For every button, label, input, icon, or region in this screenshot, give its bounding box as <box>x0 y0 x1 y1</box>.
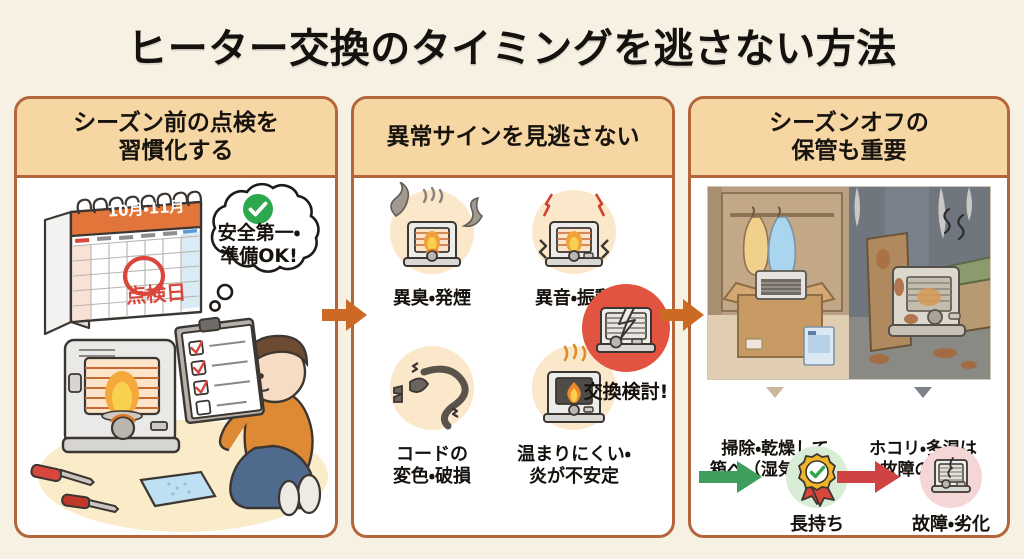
symptom-damaged-cord: コードの 変色・破損 <box>362 338 502 487</box>
panel-abnormal-signs: 異常サインを見逃さない <box>351 96 675 538</box>
symptoms-scene: 異臭・発煙 <box>354 178 672 538</box>
arrow-to-longevity <box>699 460 763 498</box>
caption-tail-left <box>766 387 784 398</box>
page-title: ヒーター交換のタイミングを逃さない方法 <box>0 16 1024 74</box>
panel-3-header: シーズンオフの 保管も重要 <box>691 99 1007 178</box>
storage-photo-pair <box>707 186 991 380</box>
panel-1-body: 10月・11月 点検日 安全第一・ 準備O <box>17 178 335 538</box>
storage-outcomes: 長持ち <box>691 446 1007 538</box>
panel-1-header-line-2: 習慣化する <box>73 137 279 165</box>
symptom-3-label: 温まりにくい・ 炎が不安定 <box>504 444 644 487</box>
panel-1-header-line-1: シーズン前の点検を <box>73 109 279 137</box>
inspection-scene: 10月・11月 点検日 安全第一・ 準備O <box>17 178 335 538</box>
check-circle-icon <box>241 192 275 226</box>
replacement-callout-label: 交換検討! <box>568 377 675 404</box>
symptom-0-label: 異臭・発煙 <box>362 288 502 310</box>
clipboard-checklist <box>175 318 264 424</box>
panel-3-header-line-2: 保管も重要 <box>769 137 929 165</box>
panel-3-body: 掃除・乾燥して 箱へ（湿気NG） ホコリ・多湿は 故障の原因 <box>691 178 1007 538</box>
panel-pre-season-inspection: シーズン前の点検を 習慣化する <box>14 96 338 538</box>
panel-off-season-storage: シーズンオフの 保管も重要 <box>688 96 1010 538</box>
storage-scene: 掃除・乾燥して 箱へ（湿気NG） ホコリ・多湿は 故障の原因 <box>691 178 1007 538</box>
dusty-damp-heater-photo <box>849 187 990 379</box>
heater-smoke-icon <box>380 182 484 286</box>
panel-2-body: 異臭・発煙 <box>354 178 672 538</box>
panel-3-header-line-1: シーズンオフの <box>769 109 929 137</box>
closet-boxed-heater-photo <box>708 187 849 379</box>
outcome-good-label: 長持ち <box>769 510 865 536</box>
arrow-to-failure <box>837 460 901 498</box>
person-and-heater-illustration <box>23 298 335 538</box>
panel-2-header: 異常サインを見逃さない <box>354 99 672 178</box>
panel-1-header: シーズン前の点検を 習慣化する <box>17 99 335 178</box>
arrow-panel1-to-panel2 <box>322 298 368 332</box>
arrow-panel2-to-panel3 <box>659 298 705 332</box>
broken-heater-icon <box>920 446 982 508</box>
outcome-failure: 故障・劣化 <box>903 446 999 536</box>
heater-vibration-icon <box>522 182 626 286</box>
symptom-odor-smoke: 異臭・発煙 <box>362 182 502 310</box>
outcome-bad-label: 故障・劣化 <box>903 510 999 536</box>
kerosene-heater <box>63 340 179 452</box>
caption-tail-right <box>914 387 932 398</box>
symptom-2-label: コードの 変色・破損 <box>362 444 502 487</box>
damaged-cord-icon <box>380 338 484 442</box>
